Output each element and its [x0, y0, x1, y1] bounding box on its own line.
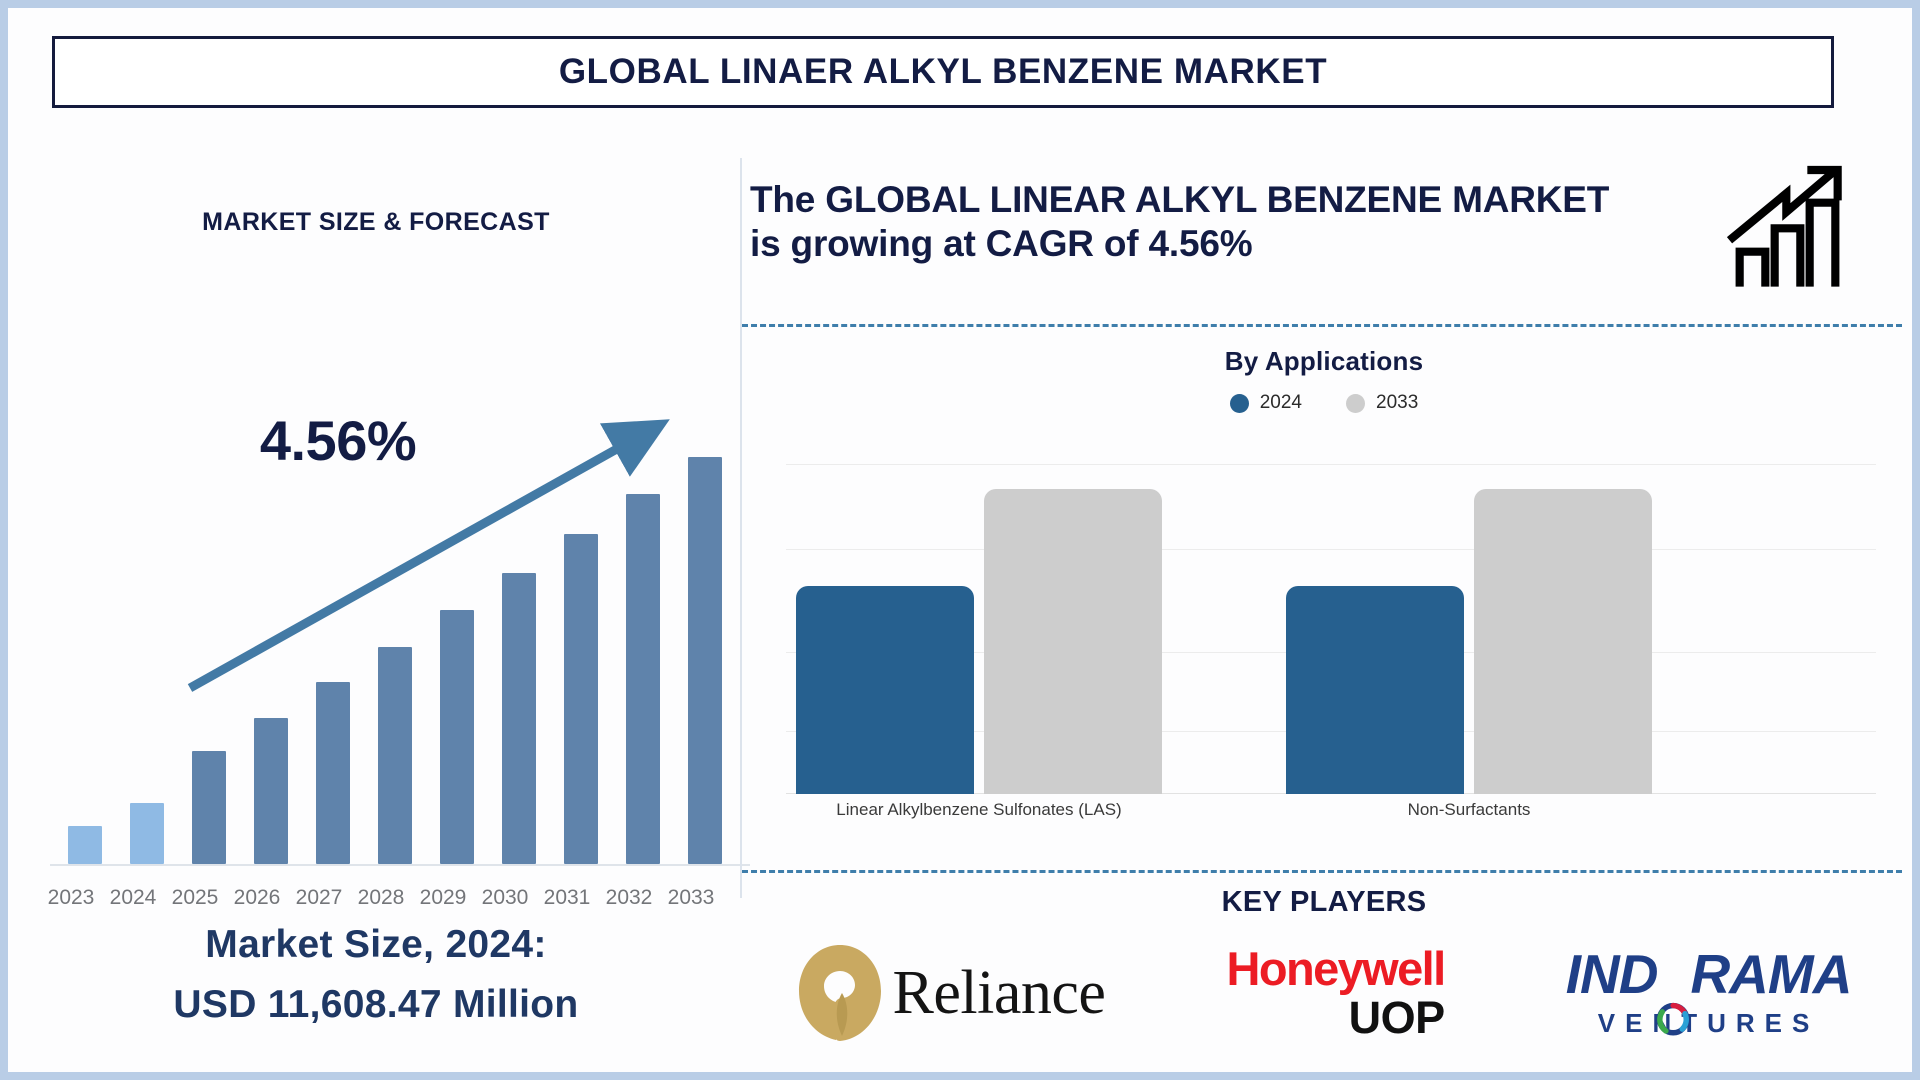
gridline-2 [786, 549, 1876, 550]
bar-2027 [316, 682, 350, 864]
honeywell-wordmark: Honeywell [1227, 945, 1445, 992]
xtick-2030: 2030 [474, 886, 536, 910]
bar-2024 [130, 803, 164, 864]
bar-nonsurf-2033 [1474, 489, 1652, 794]
key-players-logos: Reliance Honeywell UOP IND [736, 928, 1912, 1058]
cagr-statement: The GLOBAL LINEAR ALKYL BENZENE MARKET i… [750, 178, 1620, 265]
legend-item-2024: 2024 [1230, 392, 1302, 414]
xtick-2024: 2024 [102, 886, 164, 910]
chart-baseline [50, 864, 750, 866]
divider-top [742, 324, 1902, 327]
infographic-root: GLOBAL LINAER ALKYL BENZENE MARKET MARKE… [0, 0, 1920, 1080]
bar-2033 [688, 457, 722, 864]
market-size-heading: MARKET SIZE & FORECAST [18, 208, 734, 237]
bar-las-2033 [984, 489, 1162, 794]
cagr-callout: 4.56% [198, 408, 478, 473]
xtick-2029: 2029 [412, 886, 474, 910]
xtick-nonsurfactants: Non-Surfactants [1286, 800, 1652, 820]
market-size-panel: MARKET SIZE & FORECAST 2023 2024 2025 [18, 128, 738, 1068]
market-size-value-line1: Market Size, 2024: [18, 923, 734, 967]
bar-2030 [502, 573, 536, 864]
market-size-value-line2: USD 11,608.47 Million [18, 983, 734, 1027]
reliance-wordmark: Reliance [893, 962, 1106, 1024]
logo-reliance: Reliance [797, 943, 1106, 1043]
uop-wordmark: UOP [1349, 994, 1445, 1041]
title-box: GLOBAL LINAER ALKYL BENZENE MARKET [52, 36, 1834, 108]
xtick-2031: 2031 [536, 886, 598, 910]
bar-2031 [564, 534, 598, 864]
bar-las-2024 [796, 586, 974, 794]
bar-nonsurf-2024 [1286, 586, 1464, 794]
bar-2026 [254, 718, 288, 864]
logo-honeywell-uop: Honeywell UOP [1227, 945, 1445, 1041]
bar-2023 [68, 826, 102, 864]
infographic-canvas: GLOBAL LINAER ALKYL BENZENE MARKET MARKE… [8, 8, 1912, 1072]
xtick-las: Linear Alkylbenzene Sulfonates (LAS) [796, 800, 1162, 820]
details-panel: The GLOBAL LINEAR ALKYL BENZENE MARKET i… [736, 128, 1912, 1078]
legend-label-2024: 2024 [1260, 392, 1302, 414]
page-title: GLOBAL LINAER ALKYL BENZENE MARKET [559, 52, 1327, 92]
legend-item-2033: 2033 [1346, 392, 1418, 414]
xtick-2026: 2026 [226, 886, 288, 910]
growth-chart-icon [1714, 156, 1854, 296]
logo-indorama-ventures: IND RAMA VENTURES [1566, 947, 1852, 1039]
divider-bottom [742, 870, 1902, 873]
applications-legend: 2024 2033 [736, 392, 1912, 414]
indorama-wordmark-prefix: IND [1566, 943, 1658, 1005]
indorama-wordmark-suffix: RAMA [1690, 943, 1851, 1005]
xtick-2027: 2027 [288, 886, 350, 910]
legend-dot-2024 [1230, 394, 1249, 413]
gridline-1 [786, 464, 1876, 465]
applications-heading: By Applications [736, 346, 1912, 377]
xtick-2025: 2025 [164, 886, 226, 910]
bar-2025 [192, 751, 226, 864]
xtick-2033: 2033 [660, 886, 722, 910]
key-players-heading: KEY PLAYERS [736, 886, 1912, 919]
xtick-2028: 2028 [350, 886, 412, 910]
ventures-wordmark: VENTURES [1598, 1008, 1820, 1039]
xtick-2023: 2023 [40, 886, 102, 910]
bar-2032 [626, 494, 660, 864]
by-applications-chart: Linear Alkylbenzene Sulfonates (LAS) Non… [786, 444, 1876, 794]
reliance-mark-icon [797, 943, 883, 1043]
xtick-2032: 2032 [598, 886, 660, 910]
indorama-wordmark: IND RAMA [1566, 947, 1852, 1002]
bar-2028 [378, 647, 412, 864]
bar-2029 [440, 610, 474, 864]
legend-dot-2033 [1346, 394, 1365, 413]
legend-label-2033: 2033 [1376, 392, 1418, 414]
